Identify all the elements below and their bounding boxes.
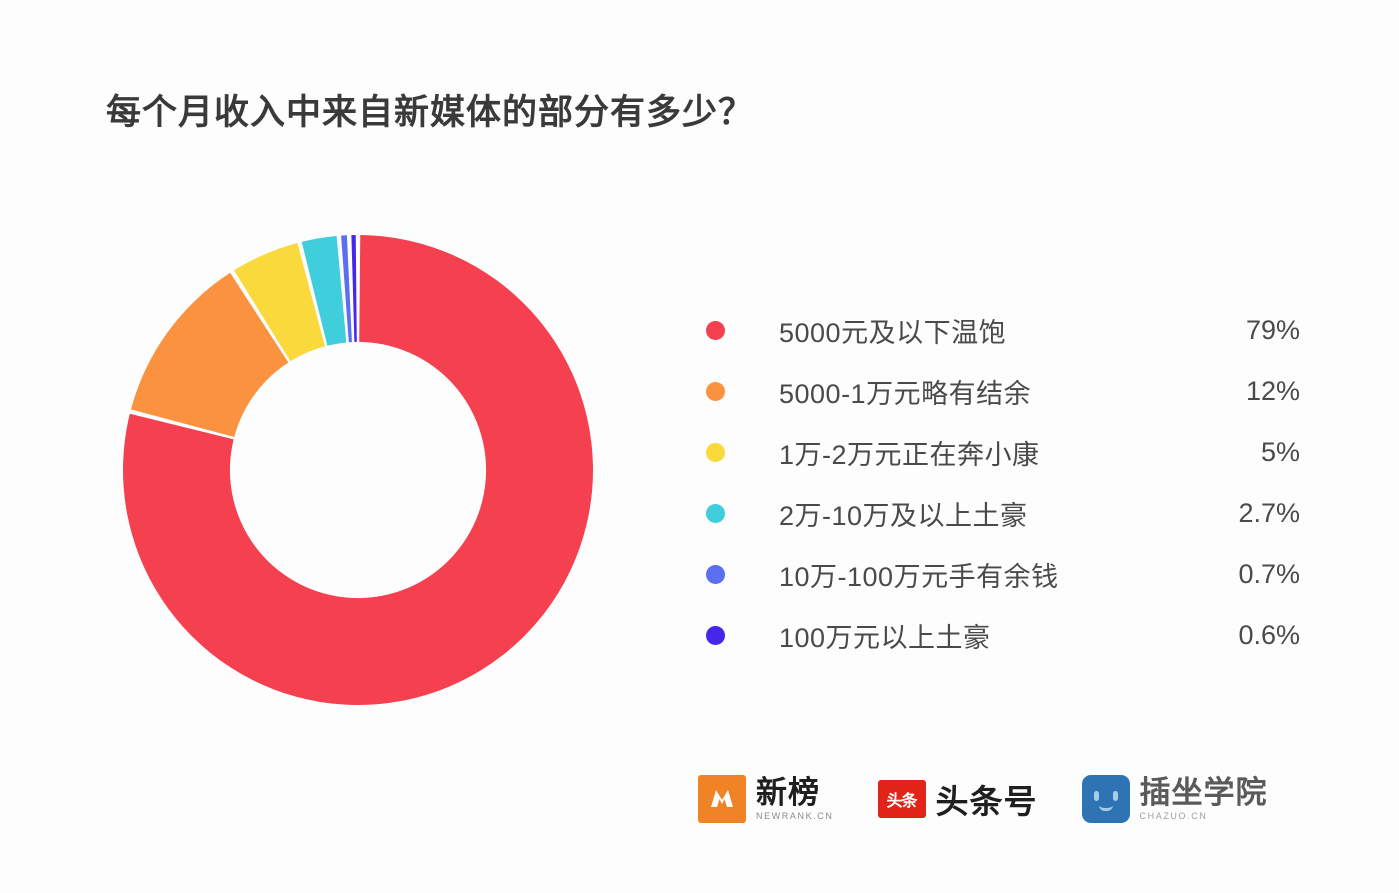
legend-item[interactable]: 10万-100万元手有余钱 0.7% [706, 544, 1306, 605]
toutiao-mark-icon: 头条 [878, 780, 926, 818]
chazuo-eye-left [1094, 791, 1099, 801]
newrank-mark-icon [698, 775, 746, 823]
legend-item-value: 2.7% [1210, 498, 1306, 529]
chazuo-mouth [1099, 805, 1113, 811]
legend-swatch-icon [706, 321, 725, 340]
chazuo-face-icon [1082, 775, 1130, 823]
legend-swatch-icon [706, 443, 725, 462]
toutiaohao-label-cn: 头条号 [936, 775, 1038, 823]
legend-item-value: 0.7% [1210, 559, 1306, 590]
donut-slice-group [123, 235, 593, 705]
page-title: 每个月收入中来自新媒体的部分有多少？ [106, 84, 754, 135]
newrank-label-cn: 新榜 [756, 777, 834, 808]
legend-item[interactable]: 2万-10万及以上土豪 2.7% [706, 483, 1306, 544]
legend-item[interactable]: 100万元以上土豪 0.6% [706, 605, 1306, 666]
legend-item[interactable]: 1万-2万元正在奔小康 5% [706, 422, 1306, 483]
legend-item[interactable]: 5000-1万元略有结余 12% [706, 361, 1306, 422]
legend-item-label: 2万-10万及以上土豪 [779, 494, 1028, 533]
logo-toutiaohao[interactable]: 头条 头条号 [878, 775, 1038, 823]
chazuo-label-en: CHAZUO.CN [1140, 812, 1268, 821]
legend-item-value: 0.6% [1210, 620, 1306, 651]
chart-legend: 5000元及以下温饱 79% 5000-1万元略有结余 12% 1万-2万元正在… [706, 300, 1306, 666]
legend-item-value: 12% [1210, 376, 1306, 407]
chazuo-eye-right [1113, 791, 1118, 801]
donut-chart [123, 235, 593, 705]
donut-chart-svg [123, 235, 593, 705]
chazuo-label-cn: 插坐学院 [1140, 777, 1268, 808]
logo-chazuo[interactable]: 插坐学院 CHAZUO.CN [1082, 775, 1268, 823]
legend-item-value: 79% [1210, 315, 1306, 346]
newrank-label-en: NEWRANK.CN [756, 812, 834, 821]
legend-item-label: 1万-2万元正在奔小康 [779, 433, 1040, 472]
legend-swatch-icon [706, 504, 725, 523]
legend-swatch-icon [706, 382, 725, 401]
legend-item-label: 10万-100万元手有余钱 [779, 555, 1059, 594]
legend-item-label: 5000-1万元略有结余 [779, 372, 1031, 411]
legend-item-label: 100万元以上土豪 [779, 616, 991, 655]
legend-item[interactable]: 5000元及以下温饱 79% [706, 300, 1306, 361]
logo-newrank[interactable]: 新榜 NEWRANK.CN [698, 775, 834, 823]
donut-slice[interactable] [351, 235, 356, 342]
legend-item-value: 5% [1210, 437, 1306, 468]
legend-item-label: 5000元及以下温饱 [779, 311, 1006, 350]
legend-swatch-icon [706, 626, 725, 645]
footer-logo-bar: 新榜 NEWRANK.CN 头条 头条号 插坐学院 CHAZUO.CN [698, 775, 1268, 823]
toutiao-mark-text: 头条 [887, 787, 917, 811]
legend-swatch-icon [706, 565, 725, 584]
